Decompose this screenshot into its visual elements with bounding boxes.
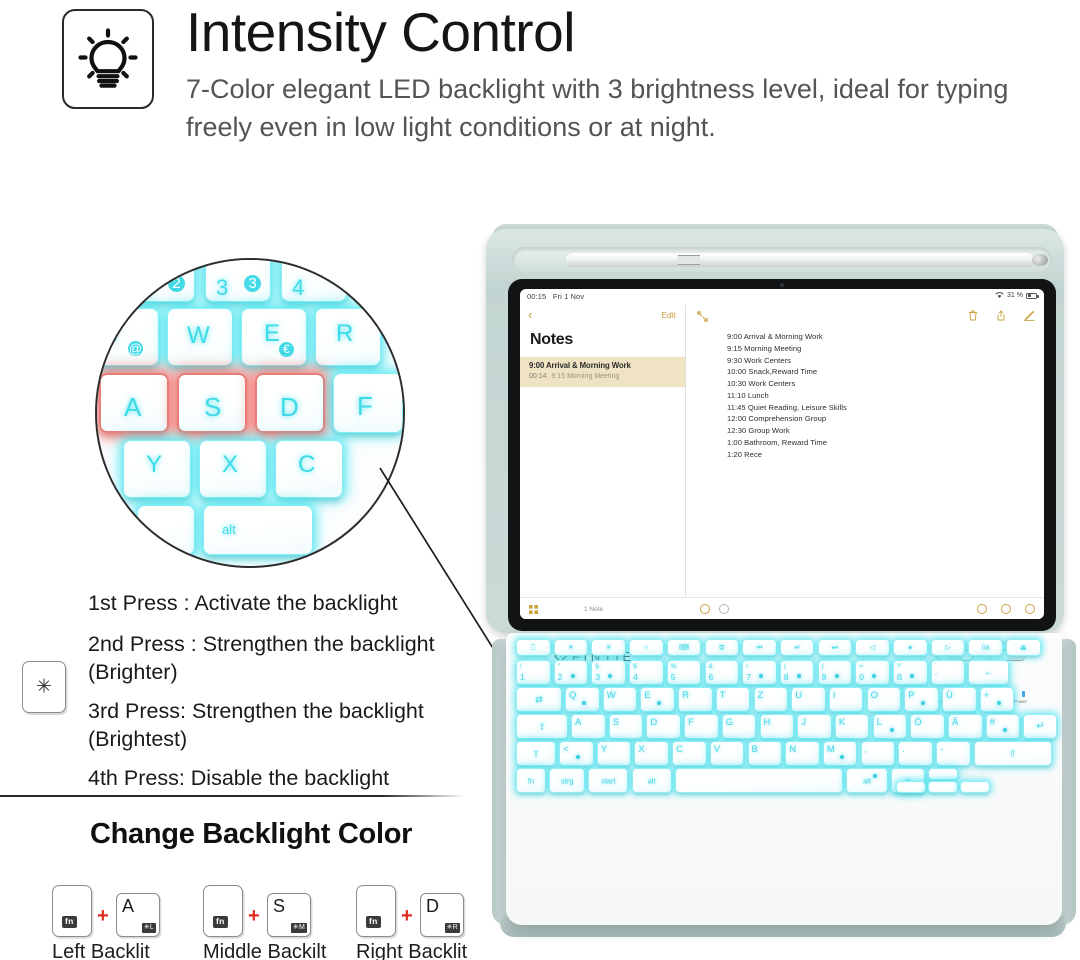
fn-label: fn	[366, 916, 381, 928]
key-z[interactable]: Z	[754, 687, 789, 712]
key-fn[interactable]: fn	[516, 768, 546, 793]
battery-percent: 31 %	[1007, 292, 1023, 299]
a-key-label: A	[122, 896, 134, 917]
key-main-label: R	[682, 691, 689, 701]
notes-sidebar-header: ‹ Edit	[520, 305, 685, 327]
key-u[interactable]: U	[791, 687, 826, 712]
key-strg[interactable]: strg	[549, 768, 585, 793]
key-main-label: Ä	[952, 718, 958, 728]
key-main-label: ß	[897, 673, 902, 682]
key-r[interactable]: R	[678, 687, 713, 712]
press-line-3a: 3rd Press: Strengthen the backlight	[88, 698, 488, 726]
key-main-label: ,	[865, 745, 868, 755]
key-indicator-dot	[1003, 728, 1007, 732]
key-main-label: O	[871, 691, 878, 701]
undo-redo-group	[700, 604, 729, 614]
key-indicator-dot	[997, 701, 1001, 705]
key-glyph: ✳	[606, 644, 612, 651]
key-indicator-dot	[835, 674, 839, 678]
magnified-key-s-highlighted: S	[177, 373, 247, 433]
combo-middle-backlit: fn + S ✳M Middle Backilt	[203, 885, 373, 939]
key-main-label: H	[764, 718, 771, 728]
key-ö[interactable]: Ö	[910, 714, 945, 739]
key-main-label: -	[940, 745, 943, 755]
key-main-label: 0	[859, 673, 864, 682]
press-line-2a: 2nd Press : Strengthen the backlight	[88, 631, 488, 659]
note-count-label: 1 Note	[584, 606, 603, 613]
key-ä[interactable]: Ä	[948, 714, 983, 739]
key-arrow-right[interactable]	[960, 781, 990, 793]
note-item-time: 00:14	[529, 373, 547, 380]
magnified-key-c: C	[275, 440, 343, 498]
key-d[interactable]: D	[646, 714, 681, 739]
key-main-label: Ü	[946, 691, 953, 701]
ios-status-bar: 00:15 Fri 1 Nov 31 %	[520, 289, 1044, 305]
case-right-edge	[1060, 639, 1076, 925]
key-punct10[interactable]: -	[936, 741, 971, 766]
key-enter[interactable]: ↵	[1023, 714, 1057, 739]
section-divider	[0, 795, 466, 797]
key-fn-1[interactable]: ☀	[554, 639, 589, 656]
key-main-label: I	[833, 691, 836, 701]
press-line-3: 3rd Press: Strengthen the backlight (Bri…	[88, 698, 488, 754]
key-main-label: <	[563, 745, 569, 755]
status-date: Fri 1 Nov	[553, 292, 584, 301]
key-main-label: start	[601, 777, 616, 785]
key-num-´[interactable]: `´	[931, 660, 966, 685]
key-num-ß[interactable]: ?ß	[893, 660, 928, 685]
wifi-icon	[995, 292, 1004, 299]
key-num-2[interactable]: "2	[554, 660, 589, 685]
key-fn-7[interactable]: ⏯	[780, 639, 815, 656]
key-main-label: 9	[822, 673, 827, 682]
key-shift-right[interactable]: ⇧	[974, 741, 1052, 766]
key-main-label: 2	[558, 673, 563, 682]
note-line: 9:15 Morning Meeting	[727, 343, 1036, 355]
magnified-key-r: R	[315, 308, 381, 366]
magnified-key-2: 2 2	[129, 258, 195, 302]
press-instructions-list: 1st Press : Activate the backlight 2nd P…	[88, 590, 488, 806]
key-glyph: ☀	[568, 644, 574, 651]
key-j[interactable]: J	[797, 714, 832, 739]
key-p[interactable]: P	[904, 687, 939, 712]
key-main-label: V	[714, 745, 720, 755]
key-arrow-up[interactable]	[928, 768, 958, 780]
key-main-label: Ö	[914, 718, 921, 728]
note-list-item-selected[interactable]: 9:00 Arrival & Morning Work 00:149:15 Mo…	[520, 357, 685, 387]
tablet-screen: 00:15 Fri 1 Nov 31 % ‹	[520, 289, 1044, 619]
key-sec-label: (	[784, 664, 786, 671]
key-sec-label: §	[595, 664, 599, 671]
key-+[interactable]: +	[980, 687, 1015, 712]
key-main-label: alt	[863, 777, 871, 785]
key-fn-12[interactable]: ὐa	[968, 639, 1003, 656]
key-sec-label: %	[671, 664, 677, 671]
key-sec-label: /	[746, 664, 748, 671]
gallery-view-icon[interactable]	[529, 605, 538, 614]
document-toolbar	[687, 305, 1044, 329]
key-indicator-dot	[921, 701, 925, 705]
key-punct8[interactable]: ,	[861, 741, 896, 766]
key-main-label: X	[638, 745, 644, 755]
key-f[interactable]: F	[684, 714, 719, 739]
note-item-meta: 00:149:15 Morning Meeting	[529, 373, 676, 380]
header-section: Intensity Control 7-Color elegant LED ba…	[0, 0, 1080, 175]
status-time-date: 00:15 Fri 1 Nov	[527, 292, 584, 301]
status-time: 00:15	[527, 292, 546, 301]
note-line: 9:30 Work Centers	[727, 355, 1036, 367]
key-glyph: ⏏	[1020, 644, 1027, 651]
key-num-4[interactable]: $4	[629, 660, 664, 685]
delete-icon[interactable]	[968, 310, 978, 321]
key-b[interactable]: B	[748, 741, 783, 766]
edit-button[interactable]: Edit	[661, 310, 676, 320]
key-sec-label: ?	[897, 664, 901, 671]
note-document-pane: 9:00 Arrival & Morning Work 9:15 Morning…	[687, 305, 1044, 597]
note-item-title: 9:00 Arrival & Morning Work	[529, 361, 676, 370]
key-e[interactable]: E	[640, 687, 675, 712]
key-main-label: M	[827, 745, 835, 755]
key-main-label: Z	[758, 691, 764, 701]
key-glyph: ⌕	[644, 644, 648, 651]
press-line-2: 2nd Press : Strengthen the backlight (Br…	[88, 631, 488, 687]
key-alt-right[interactable]: alt	[846, 768, 888, 793]
magnified-key-f: F	[333, 373, 403, 433]
key-punct9[interactable]: .	[898, 741, 933, 766]
key-fn-11[interactable]: ▷	[931, 639, 966, 656]
plus-sign-1: +	[97, 905, 109, 928]
front-camera	[780, 283, 784, 287]
magnified-key-e: E €	[241, 308, 307, 366]
key-main-label: N	[789, 745, 796, 755]
key-main-label: alt	[648, 777, 656, 785]
key-num-0[interactable]: =0	[855, 660, 890, 685]
note-line: 10:00 Snack,Reward Time	[727, 366, 1036, 378]
key-glyph: ⎕	[531, 644, 535, 651]
a-key-icon: A ✳L	[116, 893, 160, 937]
key-indicator-dot	[797, 674, 801, 678]
key-glyph: ὐa	[982, 644, 990, 651]
fn-label: fn	[213, 916, 228, 928]
key-indicator-dot	[890, 728, 894, 732]
key-glyph: ⏭	[832, 644, 838, 651]
key-main-label: U	[795, 691, 802, 701]
key-tab[interactable]: ⇄	[516, 687, 562, 712]
key-glyph: ▷	[945, 644, 950, 651]
key-glyph: ⏮	[756, 644, 762, 651]
expand-icon[interactable]	[697, 311, 708, 322]
apple-pencil	[566, 253, 1034, 267]
key-main-label: S	[613, 718, 619, 728]
key-glyph: ⌨	[679, 644, 689, 651]
s-key-icon: S ✳M	[267, 893, 311, 937]
attachment-icon[interactable]	[1001, 604, 1011, 614]
key-fn-3[interactable]: ⌕	[629, 639, 664, 656]
key-main-label: .	[902, 745, 905, 755]
fn-key-icon: fn	[52, 885, 92, 937]
key-indicator-dot	[910, 674, 914, 678]
key-ü[interactable]: Ü	[942, 687, 977, 712]
key-o[interactable]: O	[867, 687, 902, 712]
key-num-9[interactable]: )9	[818, 660, 853, 685]
back-button[interactable]: ‹	[528, 308, 532, 321]
note-item-preview: 9:15 Morning Meeting	[552, 373, 620, 380]
key-fn-10[interactable]: ●	[893, 639, 928, 656]
key-main-label: #	[990, 718, 995, 728]
key-g[interactable]: G	[722, 714, 757, 739]
key-punct0[interactable]: <	[559, 741, 594, 766]
key-main-label: A	[575, 718, 581, 728]
key-main-label: 5	[671, 673, 676, 682]
key-num-1[interactable]: !1	[516, 660, 551, 685]
key-arrow-left[interactable]	[896, 781, 926, 793]
power-led	[1022, 691, 1025, 697]
key-main-label: fn	[528, 777, 534, 785]
d-key-label: D	[426, 896, 439, 917]
page-title: Intensity Control	[186, 0, 575, 67]
tablet-lid: 00:15 Fri 1 Nov 31 % ‹	[486, 229, 1064, 633]
lightbulb-icon	[62, 9, 154, 109]
power-led-label: Power	[1014, 699, 1027, 704]
key-main-label: W	[607, 691, 616, 701]
key-indicator-dot	[759, 674, 763, 678]
keyboard-closeup-magnifier: 2 2 § 3 3 4 Q @ W E € R A S	[95, 258, 405, 568]
key-alt-left[interactable]: alt	[632, 768, 672, 793]
magnified-key-alt: alt	[203, 505, 313, 555]
page-subtitle: 7-Color elegant LED backlight with 3 bri…	[186, 70, 1076, 147]
note-line: 1:00 Bathroom, Reward Time	[727, 437, 1036, 449]
note-line: 10:30 Work Centers	[727, 378, 1036, 390]
redo-icon[interactable]	[719, 604, 729, 614]
key-num-3[interactable]: §3	[591, 660, 626, 685]
key-main-label: strg	[561, 777, 574, 785]
key-sec-label: =	[859, 664, 863, 671]
key-h[interactable]: H	[760, 714, 795, 739]
key-sec-label: $	[633, 664, 637, 671]
key-q[interactable]: Q	[565, 687, 600, 712]
key-fn-13[interactable]: ⏏	[1006, 639, 1041, 656]
note-line: 12:00 Comprehension Group	[727, 413, 1036, 425]
pencil-holder	[512, 247, 1052, 273]
magnified-key-a-highlighted: A	[99, 373, 169, 433]
keyboard-base: FINTIE Connect OFF/ON CAPS ✳ Charge Powe…	[506, 633, 1062, 925]
key-main-label: D	[650, 718, 657, 728]
note-action-group	[977, 604, 1035, 614]
tablet-keyboard-case-photo: 00:15 Fri 1 Nov 31 % ‹	[478, 215, 1080, 945]
key-main-label: 4	[633, 673, 638, 682]
key-shift-left[interactable]: ⇧	[516, 741, 556, 766]
key-x[interactable]: X	[634, 741, 669, 766]
combo-left-backlit: fn + A ✳L Left Backlit	[52, 885, 222, 939]
press-line-3b: (Brightest)	[88, 726, 488, 754]
magnified-key-w: W	[167, 308, 233, 366]
backlight-star-key-icon: ✳	[22, 661, 66, 713]
document-tool-buttons	[968, 310, 1035, 321]
magnified-key-q: Q @	[95, 308, 159, 366]
battery-icon	[1026, 293, 1037, 299]
star-glyph: ✳	[23, 676, 65, 699]
key-fn-4[interactable]: ⌨	[667, 639, 702, 656]
key-s[interactable]: S	[609, 714, 644, 739]
magnified-key-y: Y	[123, 440, 191, 498]
key-space[interactable]	[675, 768, 843, 793]
key-main-label: C	[676, 745, 683, 755]
key-main-label: F	[688, 718, 694, 728]
d-key-sublabel: ✳R	[445, 923, 460, 933]
key-main-label: 6	[709, 673, 714, 682]
key-main-label: +	[984, 691, 990, 701]
key-main-label: 3	[595, 673, 600, 682]
key-k[interactable]: K	[835, 714, 870, 739]
share-icon[interactable]	[996, 310, 1006, 321]
key-y[interactable]: Y	[597, 741, 632, 766]
markup-icon[interactable]	[1025, 604, 1035, 614]
press-line-2b: (Brighter)	[88, 659, 488, 687]
key-a[interactable]: A	[571, 714, 606, 739]
key-sec-label: &	[709, 664, 713, 671]
status-indicators: 31 %	[995, 292, 1037, 299]
fn-key-icon: fn	[356, 885, 396, 937]
d-key-icon: D ✳R	[420, 893, 464, 937]
key-c[interactable]: C	[672, 741, 707, 766]
press-line-1: 1st Press : Activate the backlight	[88, 590, 488, 618]
key-glyph: ⏯	[794, 644, 800, 651]
key-fn-2[interactable]: ✳	[591, 639, 626, 656]
key-indicator-dot	[608, 674, 612, 678]
key-glyph: ◁	[870, 644, 875, 651]
magnified-key-3: § 3 3	[205, 258, 271, 302]
key-indicator-dot	[657, 701, 661, 705]
key-indicator-dot	[840, 755, 844, 759]
key-caps[interactable]: ⇪	[516, 714, 568, 739]
note-content-lines: 9:00 Arrival & Morning Work 9:15 Morning…	[727, 331, 1036, 460]
key-main-label: L	[877, 718, 882, 728]
key-sec-label: `	[935, 664, 937, 671]
key-indicator-dot	[582, 701, 586, 705]
note-line: 11:45 Quiet Reading, Leisure Skills	[727, 402, 1036, 414]
fn-label: fn	[62, 916, 77, 928]
key-indicator-dot	[576, 755, 580, 759]
checklist-icon[interactable]	[977, 604, 987, 614]
note-line: 12:30 Group Work	[727, 425, 1036, 437]
key-main-label: 7	[746, 673, 751, 682]
undo-icon[interactable]	[700, 604, 710, 614]
key-glyph: ●	[908, 644, 912, 651]
s-key-sublabel: ✳M	[291, 923, 307, 933]
key-n[interactable]: N	[785, 741, 820, 766]
key-fn-8[interactable]: ⏭	[818, 639, 853, 656]
key-v[interactable]: V	[710, 741, 745, 766]
key-sec-label: )	[822, 664, 824, 671]
note-line: 9:00 Arrival & Morning Work	[727, 331, 1036, 343]
key-main-label: B	[752, 745, 758, 755]
key-fn-5[interactable]: ⧉	[705, 639, 740, 656]
note-line: 11:10 Lunch	[727, 390, 1036, 402]
key-main-label: Q	[569, 691, 576, 701]
magnified-key-x: X	[199, 440, 267, 498]
key-indicator-dot	[873, 774, 877, 778]
key-w[interactable]: W	[603, 687, 638, 712]
key-i[interactable]: I	[829, 687, 864, 712]
key-main-label: J	[801, 718, 806, 728]
key-fn-6[interactable]: ⏮	[742, 639, 777, 656]
key-indicator-dot	[872, 674, 876, 678]
key-sec-label: !	[520, 664, 522, 671]
a-key-sublabel: ✳L	[142, 923, 156, 933]
key-main-label: ´	[935, 673, 938, 682]
key-sec-label: "	[558, 664, 560, 671]
key-main-label: 8	[784, 673, 789, 682]
magnified-key-blank	[137, 505, 195, 555]
notes-bottom-toolbar: 1 Note	[520, 597, 1044, 619]
screen-bezel: 00:15 Fri 1 Nov 31 % ‹	[508, 279, 1056, 631]
key-num-7[interactable]: /7	[742, 660, 777, 685]
key-main-label: E	[644, 691, 650, 701]
key-num-5[interactable]: %5	[667, 660, 702, 685]
key-main-label: G	[726, 718, 733, 728]
key-fn-0[interactable]: ⎕	[516, 639, 551, 656]
key-indicator-dot	[571, 674, 575, 678]
key-main-label: K	[839, 718, 845, 728]
plus-sign-3: +	[401, 905, 413, 928]
key-#[interactable]: #	[986, 714, 1021, 739]
key-main-label: 1	[520, 673, 525, 682]
key-backspace[interactable]: ←	[968, 660, 1009, 685]
key-m[interactable]: M	[823, 741, 858, 766]
key-glyph: ⧉	[719, 644, 724, 651]
s-key-label: S	[273, 896, 285, 917]
change-backlight-color-title: Change Backlight Color	[90, 818, 412, 851]
key-main-label: Y	[601, 745, 607, 755]
key-start[interactable]: start	[588, 768, 628, 793]
key-main-label: P	[908, 691, 914, 701]
pencil-band	[678, 255, 700, 265]
key-l[interactable]: L	[873, 714, 908, 739]
notes-sidebar: ‹ Edit Notes 9:00 Arrival & Morning Work…	[520, 305, 686, 597]
key-num-8[interactable]: (8	[780, 660, 815, 685]
press-line-4: 4th Press: Disable the backlight	[88, 765, 488, 793]
notes-title: Notes	[530, 331, 573, 349]
key-fn-9[interactable]: ◁	[855, 639, 890, 656]
magnified-key-4: 4	[281, 258, 347, 302]
note-line: 1:20 Rece	[727, 449, 1036, 461]
key-arrow-down[interactable]	[928, 781, 958, 793]
key-num-6[interactable]: &6	[705, 660, 740, 685]
magnified-key-d-highlighted: D	[255, 373, 325, 433]
compose-icon[interactable]	[1024, 310, 1035, 321]
fn-key-icon: fn	[203, 885, 243, 937]
key-t[interactable]: T	[716, 687, 751, 712]
plus-sign-2: +	[248, 905, 260, 928]
key-main-label: T	[720, 691, 726, 701]
